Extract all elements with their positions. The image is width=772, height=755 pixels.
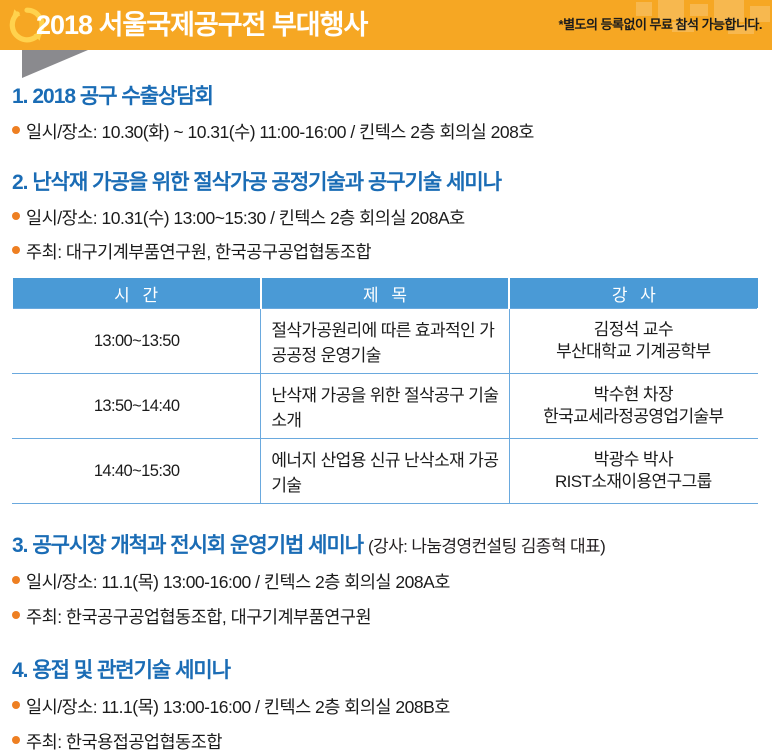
section-3-bullet-2-text: 주최: 한국공구공업협동조합, 대구기계부품연구원 — [26, 604, 371, 629]
section-4-heading: 4. 용접 및 관련기술 세미나 — [12, 654, 760, 684]
section-4-bullet-2: 주최: 한국용접공업협동조합 — [12, 729, 760, 754]
cell-speaker: 박수현 차장 한국교세라정공영업기술부 — [509, 374, 757, 439]
bullet-dot-icon — [12, 611, 20, 619]
section-2-heading: 2. 난삭재 가공을 위한 절삭가공 공정기술과 공구기술 세미나 — [12, 166, 760, 196]
section-4-heading-text: 4. 용접 및 관련기술 세미나 — [12, 659, 230, 682]
section-3-bullet-2: 주최: 한국공구공업협동조합, 대구기계부품연구원 — [12, 604, 760, 629]
section-2-heading-text: 2. 난삭재 가공을 위한 절삭가공 공정기술과 공구기술 세미나 — [12, 171, 501, 194]
cell-title: 난삭재 가공을 위한 절삭공구 기술 소개 — [261, 374, 509, 439]
column-header-speaker: 강 사 — [509, 278, 757, 309]
section-3-bullet-1-text: 일시/장소: 11.1(목) 13:00-16:00 / 킨텍스 2층 회의실 … — [26, 569, 450, 594]
section-2: 2. 난삭재 가공을 위한 절삭가공 공정기술과 공구기술 세미나 일시/장소:… — [12, 166, 760, 504]
speaker-org: 한국교세라정공영업기술부 — [514, 406, 753, 428]
bullet-dot-icon — [12, 576, 20, 584]
bullet-dot-icon — [12, 246, 20, 254]
banner-tail-triangle — [22, 50, 88, 78]
cell-time: 13:00~13:50 — [13, 309, 261, 374]
section-4-bullet-1-text: 일시/장소: 11.1(목) 13:00-16:00 / 킨텍스 2층 회의실 … — [26, 694, 450, 719]
table-header-row: 시 간 제 목 강 사 — [13, 278, 758, 309]
bullet-dot-icon — [12, 212, 20, 220]
cell-speaker: 박광수 박사 RIST소재이용연구그룹 — [509, 439, 757, 504]
table-row: 14:40~15:30 에너지 산업용 신규 난삭소재 가공기술 박광수 박사 … — [13, 439, 758, 504]
section-4-bullet-1: 일시/장소: 11.1(목) 13:00-16:00 / 킨텍스 2층 회의실 … — [12, 694, 760, 719]
section-3-heading-text: 3. 공구시장 개척과 전시회 운영기법 세미나 — [12, 534, 363, 557]
speaker-name: 박광수 박사 — [594, 450, 673, 469]
section-2-bullet-2: 주최: 대구기계부품연구원, 한국공구공업협동조합 — [12, 239, 760, 264]
section-4-bullet-2-text: 주최: 한국용접공업협동조합 — [26, 729, 222, 754]
section-3-heading-subnote: (강사: 나눔경영컨설팅 김종혁 대표) — [368, 537, 605, 556]
cell-title: 에너지 산업용 신규 난삭소재 가공기술 — [261, 439, 509, 504]
bullet-dot-icon — [12, 126, 20, 134]
bullet-dot-icon — [12, 701, 20, 709]
cell-speaker: 김정석 교수 부산대학교 기계공학부 — [509, 309, 757, 374]
cell-title: 절삭가공원리에 따른 효과적인 가공공정 운영기술 — [261, 309, 509, 374]
table-row: 13:00~13:50 절삭가공원리에 따른 효과적인 가공공정 운영기술 김정… — [13, 309, 758, 374]
section-1-bullet-1-text: 일시/장소: 10.30(화) ~ 10.31(수) 11:00-16:00 /… — [26, 119, 534, 144]
section-1: 1. 2018 공구 수출상담회 일시/장소: 10.30(화) ~ 10.31… — [12, 80, 760, 144]
speaker-org: 부산대학교 기계공학부 — [514, 341, 753, 363]
banner-note: *별도의 등록없이 무료 참석 가능합니다. — [559, 0, 762, 50]
bullet-dot-icon — [12, 736, 20, 744]
section-3-heading: 3. 공구시장 개척과 전시회 운영기법 세미나 (강사: 나눔경영컨설팅 김종… — [12, 529, 760, 559]
column-header-time: 시 간 — [13, 278, 261, 309]
section-2-bullet-2-text: 주최: 대구기계부품연구원, 한국공구공업협동조합 — [26, 239, 371, 264]
cell-time: 13:50~14:40 — [13, 374, 261, 439]
seminar-schedule-table: 시 간 제 목 강 사 13:00~13:50 절삭가공원리에 따른 효과적인 … — [12, 278, 758, 504]
speaker-name: 박수현 차장 — [594, 385, 673, 404]
section-1-heading-text: 1. 2018 공구 수출상담회 — [12, 85, 213, 108]
speaker-org: RIST소재이용연구그룹 — [514, 471, 753, 493]
section-3: 3. 공구시장 개척과 전시회 운영기법 세미나 (강사: 나눔경영컨설팅 김종… — [12, 529, 760, 629]
section-2-bullet-1-text: 일시/장소: 10.31(수) 13:00~15:30 / 킨텍스 2층 회의실… — [26, 205, 465, 230]
section-1-bullet-1: 일시/장소: 10.30(화) ~ 10.31(수) 11:00-16:00 /… — [12, 119, 760, 144]
column-header-title: 제 목 — [261, 278, 509, 309]
cell-time: 14:40~15:30 — [13, 439, 261, 504]
section-3-bullet-1: 일시/장소: 11.1(목) 13:00-16:00 / 킨텍스 2층 회의실 … — [12, 569, 760, 594]
section-2-bullet-1: 일시/장소: 10.31(수) 13:00~15:30 / 킨텍스 2층 회의실… — [12, 205, 760, 230]
header-banner: 2018 서울국제공구전 부대행사 *별도의 등록없이 무료 참석 가능합니다. — [0, 0, 772, 50]
content-area: 1. 2018 공구 수출상담회 일시/장소: 10.30(화) ~ 10.31… — [0, 80, 772, 754]
section-4: 4. 용접 및 관련기술 세미나 일시/장소: 11.1(목) 13:00-16… — [12, 654, 760, 754]
speaker-name: 김정석 교수 — [594, 320, 673, 339]
banner-title: 2018 서울국제공구전 부대행사 — [36, 3, 367, 47]
table-row: 13:50~14:40 난삭재 가공을 위한 절삭공구 기술 소개 박수현 차장… — [13, 374, 758, 439]
section-1-heading: 1. 2018 공구 수출상담회 — [12, 80, 760, 110]
